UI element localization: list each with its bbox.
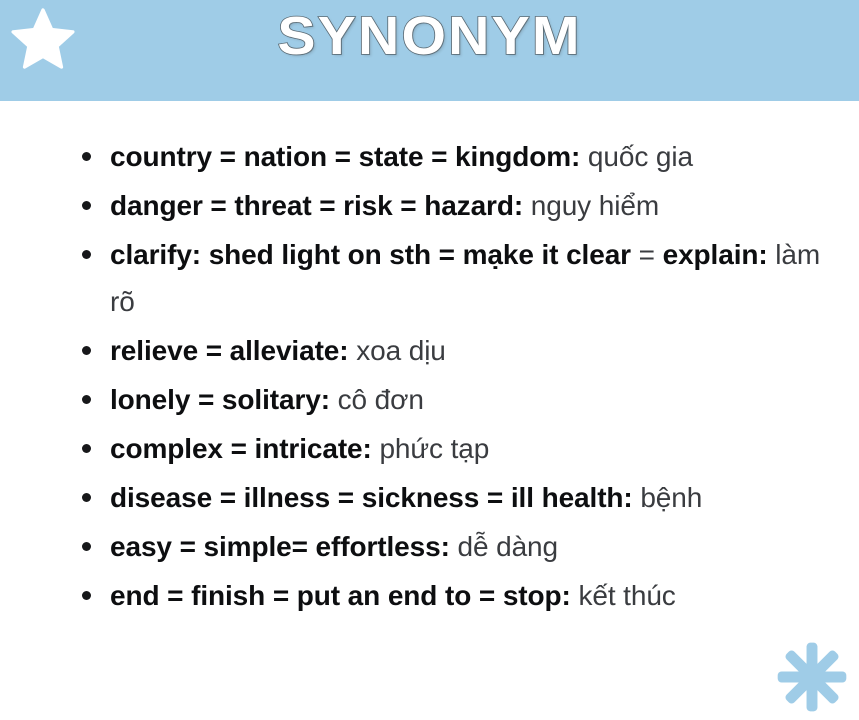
synonym-gloss: phức tạp <box>372 433 489 464</box>
bullet-icon <box>82 591 91 600</box>
synonym-separator: = <box>631 239 663 270</box>
list-item: country = nation = state = kingdom: quốc… <box>66 133 830 180</box>
list-item: complex = intricate: phức tạp <box>66 425 830 472</box>
synonym-gloss: kết thúc <box>571 580 676 611</box>
bullet-icon <box>82 346 91 355</box>
bullet-icon <box>82 493 91 502</box>
bullet-icon <box>82 444 91 453</box>
star-icon <box>10 6 76 72</box>
list-item: disease = illness = sickness = ill healt… <box>66 474 830 521</box>
synonym-terms: lonely = solitary: <box>110 384 330 415</box>
synonym-terms: relieve = alleviate: <box>110 335 349 366</box>
bullet-icon <box>82 542 91 551</box>
list-item: lonely = solitary: cô đơn <box>66 376 830 423</box>
synonym-content: country = nation = state = kingdom: quốc… <box>0 101 859 720</box>
page-title: SYNONYM <box>277 8 581 65</box>
bullet-icon <box>82 201 91 210</box>
synonym-terms: clarify: shed light on sth = mạke it cle… <box>110 239 631 270</box>
synonym-gloss: bệnh <box>633 482 703 513</box>
synonym-gloss: dễ dàng <box>450 531 558 562</box>
synonym-terms: disease = illness = sickness = ill healt… <box>110 482 633 513</box>
synonym-gloss: xoa dịu <box>349 335 446 366</box>
synonym-gloss: nguy hiểm <box>523 190 659 221</box>
list-item: end = finish = put an end to = stop: kết… <box>66 572 830 619</box>
list-item: clarify: shed light on sth = mạke it cle… <box>66 231 830 325</box>
synonym-terms: country = nation = state = kingdom: <box>110 141 580 172</box>
list-item: easy = simple= effortless: dễ dàng <box>66 523 830 570</box>
bullet-icon <box>82 250 91 259</box>
synonym-terms: end = finish = put an end to = stop: <box>110 580 571 611</box>
list-item: relieve = alleviate: xoa dịu <box>66 327 830 374</box>
synonym-terms-cont: explain: <box>663 239 768 270</box>
header-banner: SYNONYM <box>0 0 859 101</box>
synonym-terms: complex = intricate: <box>110 433 372 464</box>
bullet-icon <box>82 152 91 161</box>
synonym-gloss: cô đơn <box>330 384 424 415</box>
page-title-wrapper: SYNONYM <box>0 0 859 101</box>
bullet-icon <box>82 395 91 404</box>
synonym-terms: danger = threat = risk = hazard: <box>110 190 523 221</box>
synonym-gloss: quốc gia <box>580 141 693 172</box>
list-item: danger = threat = risk = hazard: nguy hi… <box>66 182 830 229</box>
synonym-list: country = nation = state = kingdom: quốc… <box>66 133 839 619</box>
synonym-terms: easy = simple= effortless: <box>110 531 450 562</box>
